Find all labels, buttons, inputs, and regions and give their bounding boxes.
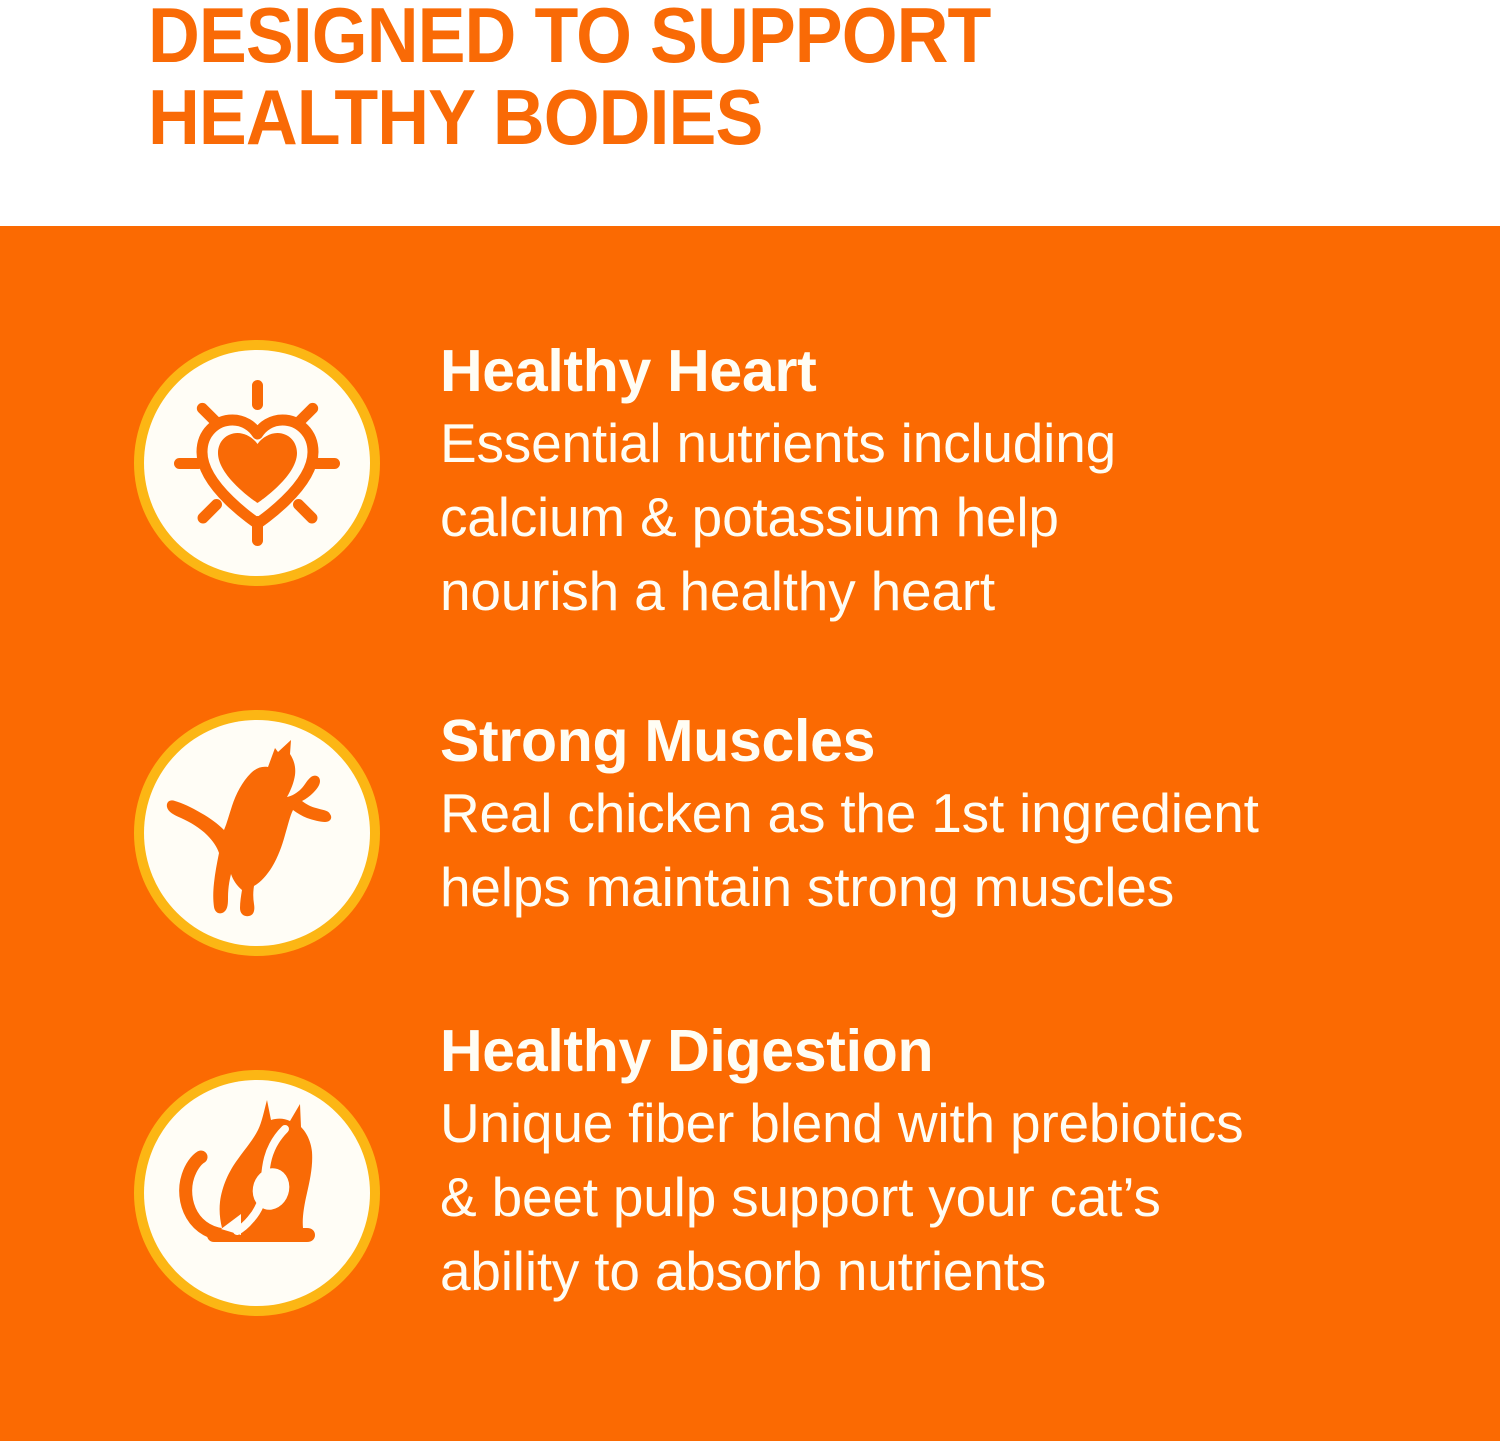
benefit-badge (134, 710, 380, 956)
benefit-description: Essential nutrients including calcium & … (440, 402, 1460, 628)
benefit-description: Real chicken as the 1st ingredient helps… (440, 772, 1460, 924)
stretching-cat-icon (144, 720, 370, 946)
benefit-text: Healthy Digestion Unique fiber blend wit… (440, 1020, 1460, 1308)
benefits-panel: Healthy Heart Essential nutrients includ… (0, 226, 1500, 1441)
benefit-title: Strong Muscles (440, 710, 1460, 772)
benefit-title: Healthy Digestion (440, 1020, 1460, 1082)
benefit-text: Strong Muscles Real chicken as the 1st i… (440, 710, 1460, 924)
radiant-heart-icon (144, 350, 370, 576)
page-title: DESIGNED TO SUPPORT HEALTHY BODIES (148, 0, 1252, 158)
header-band: DESIGNED TO SUPPORT HEALTHY BODIES (0, 0, 1500, 226)
infographic-page: DESIGNED TO SUPPORT HEALTHY BODIES (0, 0, 1500, 1441)
benefit-description: Unique fiber blend with prebiotics & bee… (440, 1082, 1460, 1308)
benefit-badge (134, 1070, 380, 1316)
benefit-text: Healthy Heart Essential nutrients includ… (440, 340, 1460, 628)
sitting-cat-digestion-icon (144, 1080, 370, 1306)
benefit-title: Healthy Heart (440, 340, 1460, 402)
benefit-badge (134, 340, 380, 586)
